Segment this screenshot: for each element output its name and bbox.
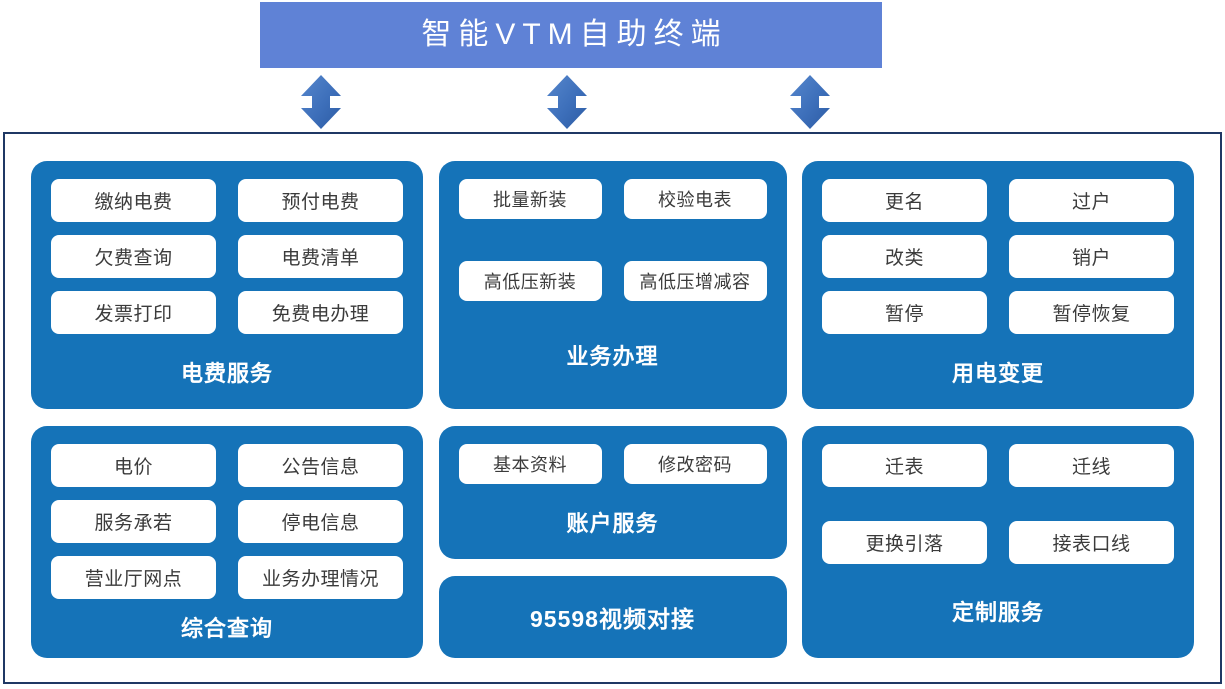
card-title: 用电变更 [822,334,1174,409]
card-title: 综合查询 [51,599,403,658]
service-item[interactable]: 接表口线 [1009,521,1174,564]
card-row-top: 缴纳电费 预付电费 欠费查询 电费清单 发票打印 免费电办理 电费服务 批量新装… [5,161,1220,409]
card-row-bottom: 电价 公告信息 服务承若 停电信息 营业厅网点 业务办理情况 综合查询 基本资料… [5,426,1220,658]
service-item[interactable]: 电费清单 [238,235,403,278]
card-item-grid: 基本资料 修改密码 [459,444,767,484]
card-title: 95598视频对接 [530,600,695,634]
service-item[interactable]: 公告信息 [238,444,403,487]
service-item[interactable]: 高低压增减容 [624,261,767,301]
terminal-function-panel: 缴纳电费 预付电费 欠费查询 电费清单 发票打印 免费电办理 电费服务 批量新装… [3,132,1222,684]
service-item[interactable]: 服务承若 [51,500,216,543]
service-item[interactable]: 电价 [51,444,216,487]
service-item[interactable]: 销户 [1009,235,1174,278]
service-card-electricity-fee-service[interactable]: 缴纳电费 预付电费 欠费查询 电费清单 发票打印 免费电办理 电费服务 [31,161,423,409]
service-item[interactable]: 欠费查询 [51,235,216,278]
card-title: 账户服务 [459,484,767,559]
service-item[interactable]: 改类 [822,235,987,278]
service-item[interactable]: 更换引落 [822,521,987,564]
service-item[interactable]: 迁线 [1009,444,1174,487]
service-item[interactable]: 停电信息 [238,500,403,543]
service-item[interactable]: 批量新装 [459,179,602,219]
service-item[interactable]: 业务办理情况 [238,556,403,599]
header-banner: 智能VTM自助终端 [260,2,882,68]
card-item-grid: 更名 过户 改类 销户 暂停 暂停恢复 [822,179,1174,334]
service-card-comprehensive-query[interactable]: 电价 公告信息 服务承若 停电信息 营业厅网点 业务办理情况 综合查询 [31,426,423,658]
card-column-2: 批量新装 校验电表 高低压新装 高低压增减容 业务办理 [439,161,787,409]
service-card-video-docking[interactable]: 95598视频对接 [439,576,787,658]
service-item[interactable]: 校验电表 [624,179,767,219]
service-item[interactable]: 暂停恢复 [1009,291,1174,334]
service-item[interactable]: 缴纳电费 [51,179,216,222]
service-card-account-service[interactable]: 基本资料 修改密码 账户服务 [439,426,787,559]
double-arrow-icon [788,74,832,130]
page-title: 智能VTM自助终端 [414,20,727,50]
service-item[interactable]: 免费电办理 [238,291,403,334]
double-arrow-icon [299,74,343,130]
card-item-grid: 缴纳电费 预付电费 欠费查询 电费清单 发票打印 免费电办理 [51,179,403,334]
service-item[interactable]: 更名 [822,179,987,222]
card-title: 电费服务 [51,334,403,409]
service-item[interactable]: 发票打印 [51,291,216,334]
card-item-grid: 迁表 迁线 更换引落 接表口线 [822,444,1174,564]
service-item[interactable]: 高低压新装 [459,261,602,301]
service-item[interactable]: 暂停 [822,291,987,334]
service-item[interactable]: 过户 [1009,179,1174,222]
card-column-4: 电价 公告信息 服务承若 停电信息 营业厅网点 业务办理情况 综合查询 [31,426,423,658]
double-arrow-icon [545,74,589,130]
card-column-3: 更名 过户 改类 销户 暂停 暂停恢复 用电变更 [802,161,1194,409]
service-card-power-usage-change[interactable]: 更名 过户 改类 销户 暂停 暂停恢复 用电变更 [802,161,1194,409]
service-item[interactable]: 营业厅网点 [51,556,216,599]
card-title: 定制服务 [822,564,1174,658]
card-item-grid: 电价 公告信息 服务承若 停电信息 营业厅网点 业务办理情况 [51,444,403,599]
card-column-1: 缴纳电费 预付电费 欠费查询 电费清单 发票打印 免费电办理 电费服务 [31,161,423,409]
card-column-6: 迁表 迁线 更换引落 接表口线 定制服务 [802,426,1194,658]
card-title: 业务办理 [459,301,767,409]
card-column-5: 基本资料 修改密码 账户服务 95598视频对接 [439,426,787,658]
connector-arrow-row [0,74,1225,132]
service-card-custom-service[interactable]: 迁表 迁线 更换引落 接表口线 定制服务 [802,426,1194,658]
service-card-business-handling[interactable]: 批量新装 校验电表 高低压新装 高低压增减容 业务办理 [439,161,787,409]
service-item[interactable]: 预付电费 [238,179,403,222]
service-item[interactable]: 迁表 [822,444,987,487]
service-item[interactable]: 修改密码 [624,444,767,484]
card-item-grid: 批量新装 校验电表 高低压新装 高低压增减容 [459,179,767,301]
service-item[interactable]: 基本资料 [459,444,602,484]
